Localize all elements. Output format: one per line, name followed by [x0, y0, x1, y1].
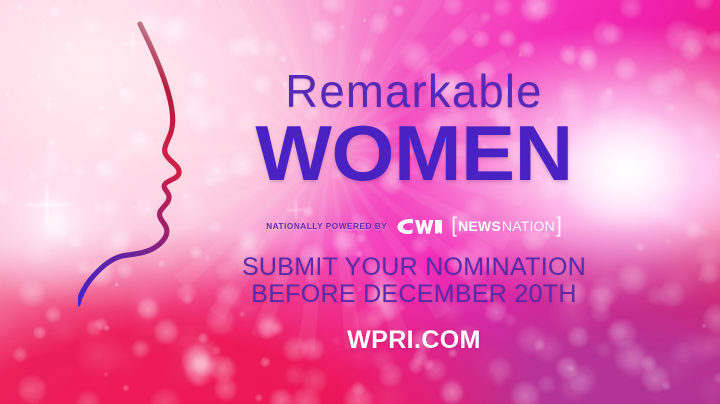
- page-title-women: WOMEN: [197, 114, 632, 192]
- cta-line-2: BEFORE DECEMBER 20TH: [205, 281, 623, 308]
- website-url[interactable]: WPRI.COM: [205, 326, 623, 355]
- cw-network-logo[interactable]: [396, 216, 442, 236]
- newsnation-bracket-close: ]: [556, 216, 562, 236]
- call-to-action: SUBMIT YOUR NOMINATION BEFORE DECEMBER 2…: [205, 254, 623, 307]
- partner-row: NATIONALLY POWERED BY [ NEWS NATION ]: [205, 213, 623, 239]
- promo-content: Remarkable WOMEN NATIONALLY POWERED BY […: [205, 0, 623, 404]
- newsnation-news-text: NEWS: [457, 218, 502, 234]
- newsnation-bracket-open: [: [451, 216, 457, 236]
- cta-line-1: SUBMIT YOUR NOMINATION: [205, 254, 623, 281]
- newsnation-nation-text: NATION: [502, 218, 556, 234]
- powered-by-label: NATIONALLY POWERED BY: [266, 222, 387, 231]
- promo-banner: Remarkable WOMEN NATIONALLY POWERED BY […: [0, 0, 720, 404]
- page-title-remarkable: Remarkable: [207, 68, 621, 114]
- newsnation-logo[interactable]: [ NEWS NATION ]: [451, 216, 562, 236]
